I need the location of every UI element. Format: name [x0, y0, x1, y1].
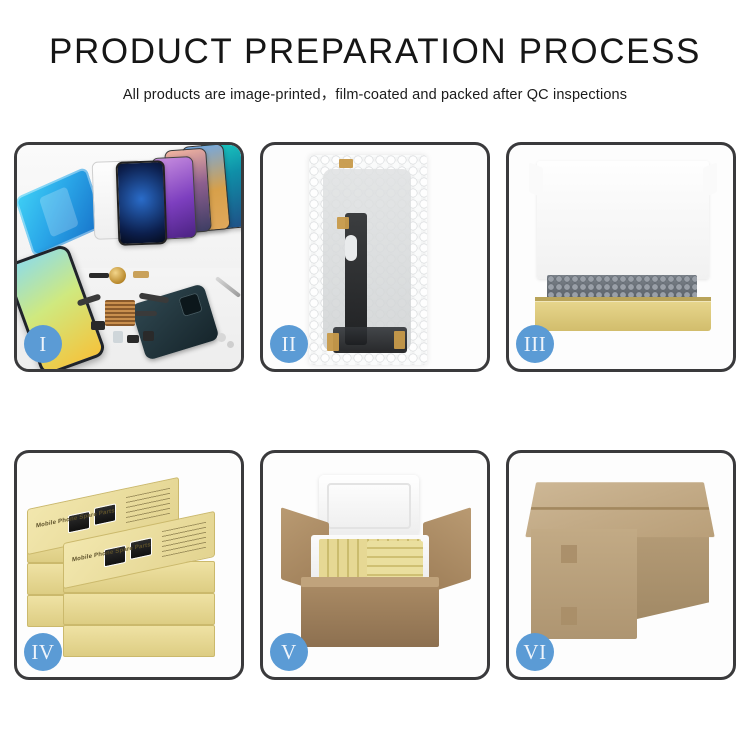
- carton-body: [301, 585, 439, 647]
- process-step-panel-3: III: [506, 142, 736, 372]
- tape-top: [339, 159, 353, 168]
- box-spec-lines-b: [162, 522, 206, 557]
- carton-tape-lower: [561, 607, 577, 625]
- step-badge-4: IV: [24, 633, 62, 671]
- foam-sheet-lid: [537, 161, 709, 279]
- step-badge-2: II: [270, 325, 308, 363]
- small-part-3: [91, 321, 105, 330]
- tape-lower-right: [394, 331, 405, 349]
- page-title: PRODUCT PREPARATION PROCESS: [0, 34, 750, 71]
- flex-cable-3: [135, 311, 157, 316]
- small-part-2: [133, 271, 149, 278]
- process-step-panel-6: VI: [506, 450, 736, 680]
- bubble-wrap-bag: [309, 155, 427, 365]
- small-part-1: [89, 273, 109, 278]
- phone-display-1: [116, 160, 168, 246]
- page-subtitle: All products are image-printed，film-coat…: [0, 83, 750, 104]
- speaker-module-icon: [109, 267, 126, 284]
- stacked-box-layer-5: [63, 593, 215, 625]
- styrofoam-lid: [319, 475, 419, 537]
- small-part-6: [143, 331, 154, 341]
- stacked-box-layer-6: [63, 625, 215, 657]
- process-step-panel-5: V: [260, 450, 490, 680]
- carton-tape-upper: [561, 545, 577, 563]
- process-step-panel-1: I: [14, 142, 244, 372]
- page-header: PRODUCT PREPARATION PROCESS All products…: [0, 0, 750, 104]
- logic-board-chip: [105, 300, 135, 326]
- wrapped-part-outline: [323, 169, 411, 351]
- screw-1: [217, 333, 226, 342]
- step-badge-5: V: [270, 633, 308, 671]
- part-dark-body: [345, 213, 367, 345]
- small-part-5: [127, 335, 139, 343]
- step-badge-3: III: [516, 325, 554, 363]
- small-part-4: [113, 331, 123, 343]
- process-step-panel-4: Mobile Phone Spare Parts Mobile Phone Sp…: [14, 450, 244, 680]
- retail-box-stack: Mobile Phone Spare Parts Mobile Phone Sp…: [23, 471, 235, 661]
- step-badge-1: I: [24, 325, 62, 363]
- tape-lower-left: [327, 333, 339, 351]
- tape-mid: [337, 217, 349, 229]
- process-step-panel-2: II: [260, 142, 490, 372]
- box-spec-lines-a: [126, 488, 170, 523]
- part-connector: [345, 235, 357, 261]
- screw-2: [227, 341, 234, 348]
- inner-box-front: [535, 301, 711, 331]
- carton-front-face: [531, 529, 637, 639]
- process-step-grid: I II III: [14, 142, 736, 680]
- step-badge-6: VI: [516, 633, 554, 671]
